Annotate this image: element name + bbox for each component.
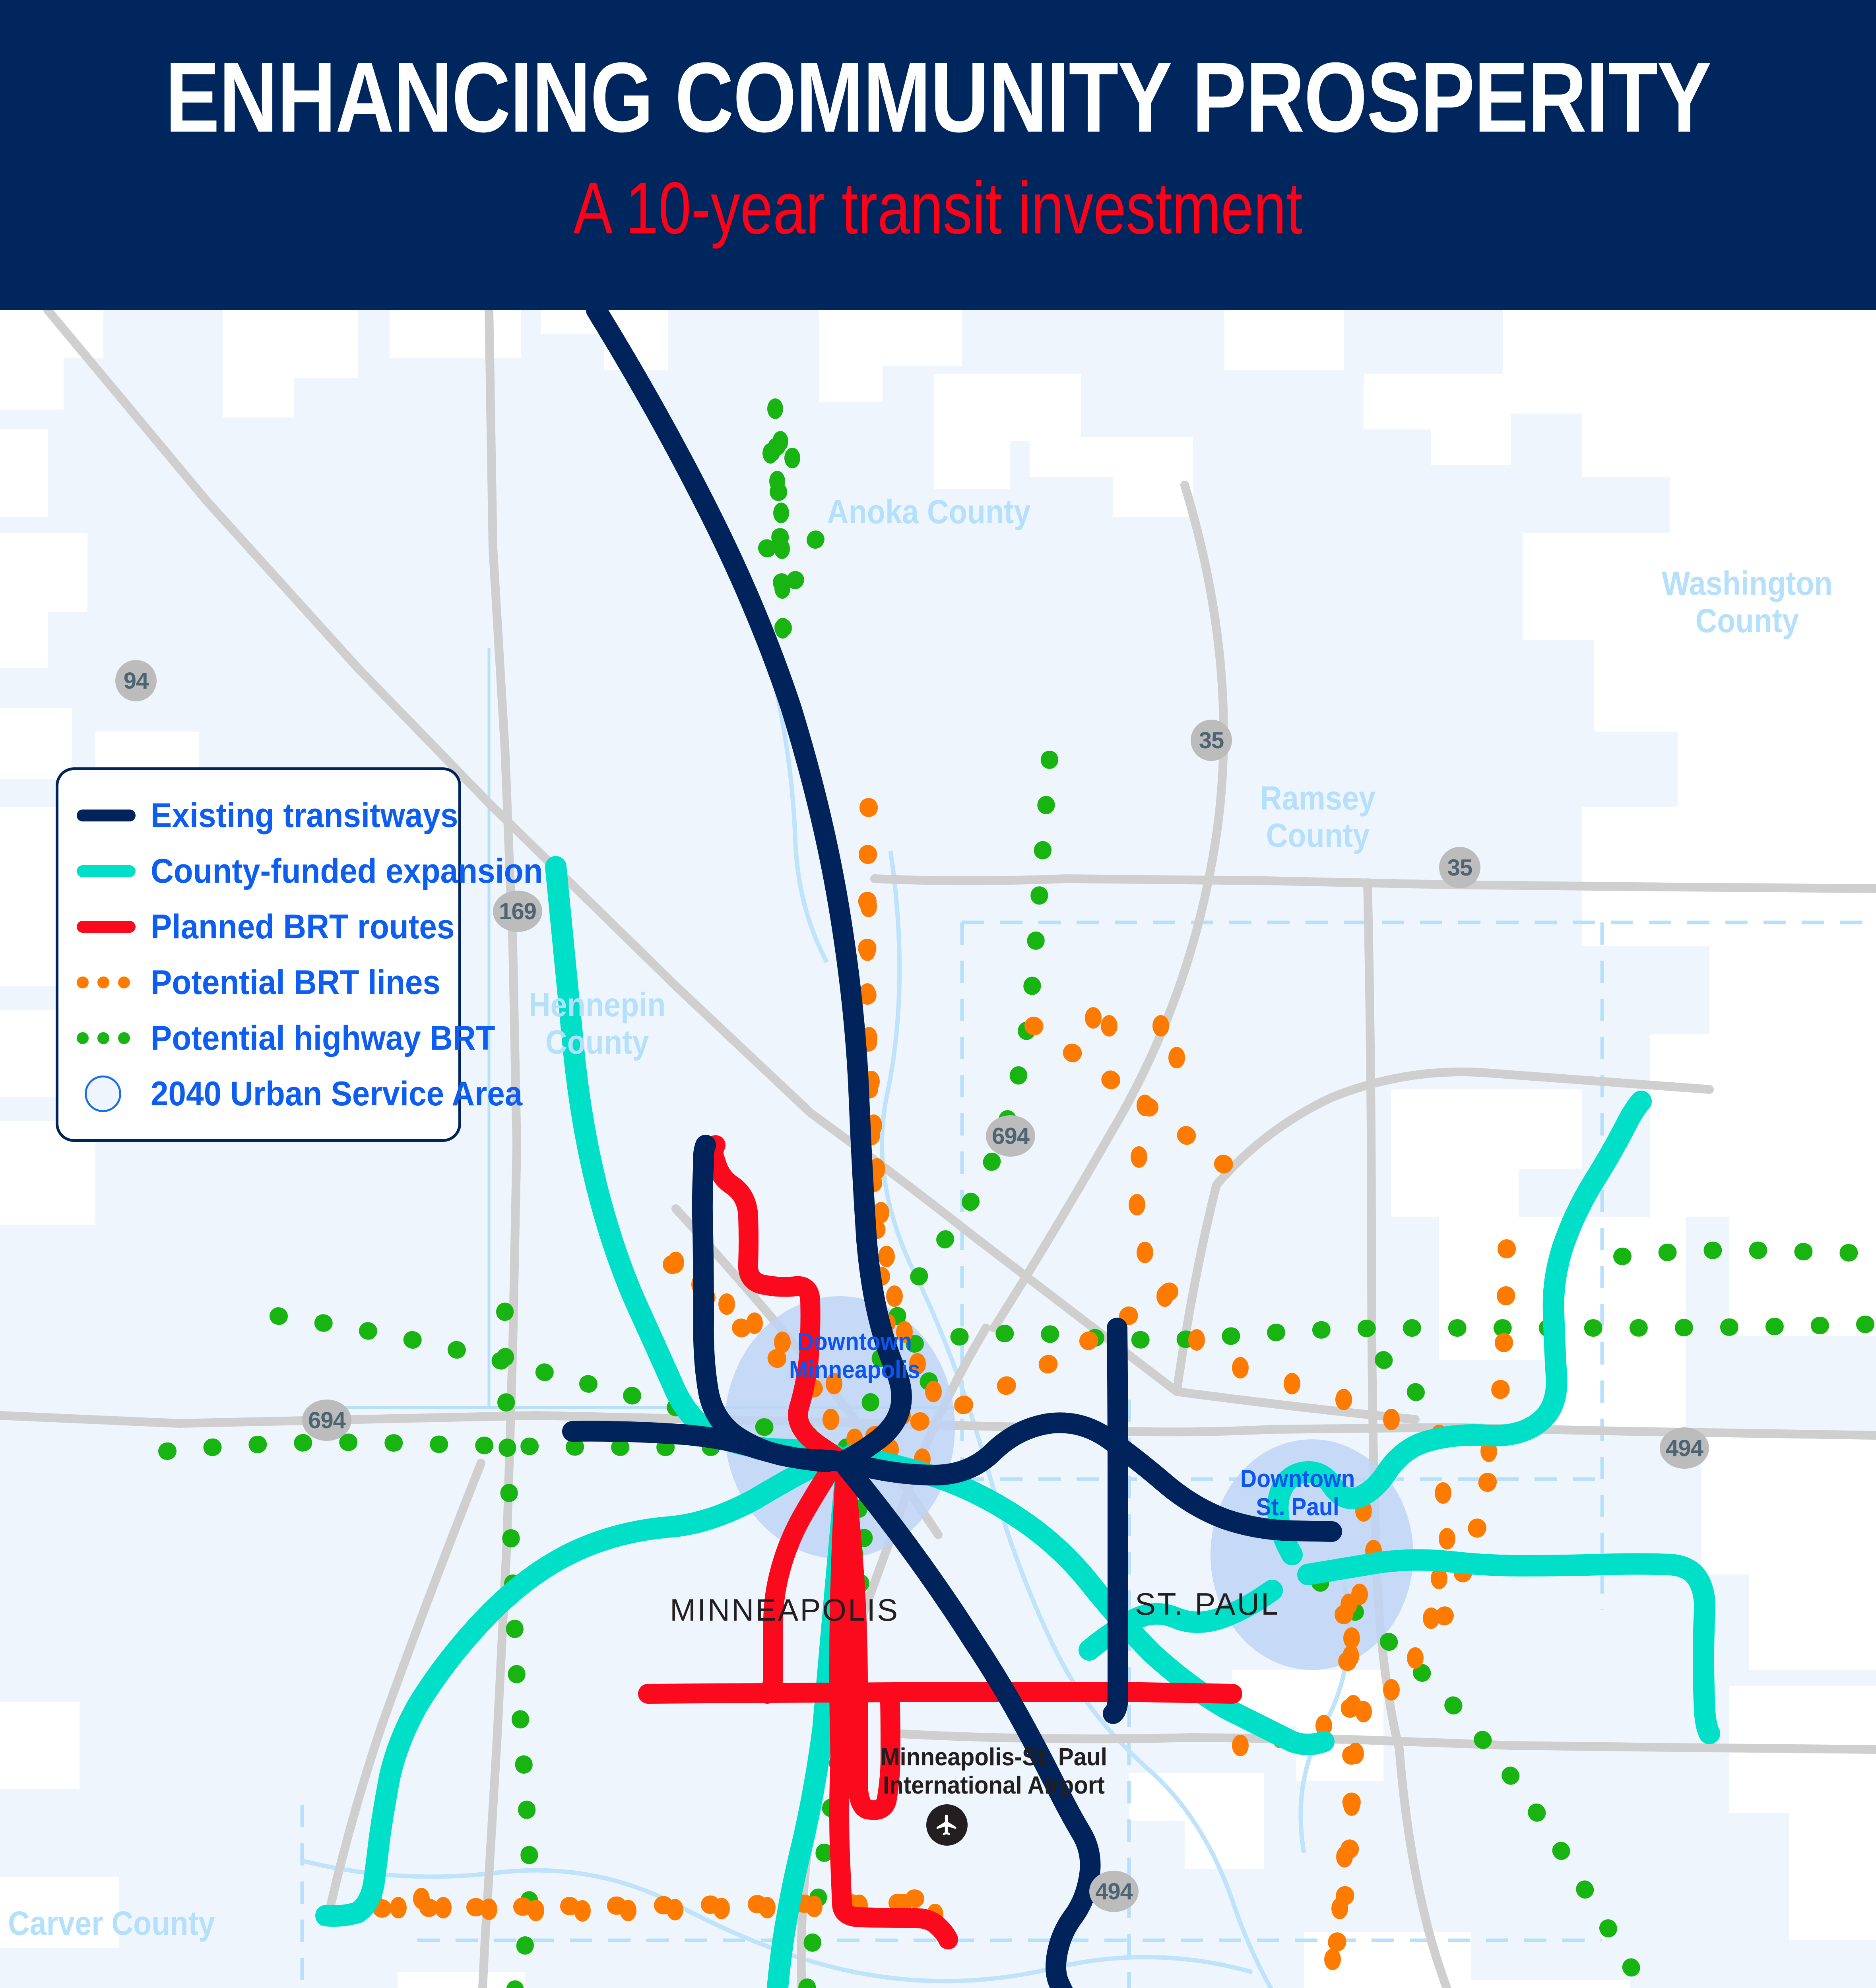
legend-label-potential-brt-lines: Potential BRT lines xyxy=(151,965,440,1000)
legend-swatch-existing-transitways xyxy=(77,788,140,843)
legend-label-urban-service-area: 2040 Urban Service Area xyxy=(151,1077,522,1111)
legend-label-county-funded-expansion: County-funded expansion xyxy=(151,854,543,888)
legend-swatch-urban-service-area xyxy=(77,1066,140,1122)
legend-label-potential-highway-brt: Potential highway BRT xyxy=(151,1021,495,1055)
legend-item-potential-brt-lines[interactable]: Potential BRT lines xyxy=(77,955,442,1010)
legend-swatch-county-funded-expansion xyxy=(77,843,140,899)
map-legend: Existing transitways County-funded expan… xyxy=(56,767,461,1142)
legend-item-planned-brt-routes[interactable]: Planned BRT routes xyxy=(77,899,442,955)
highway-shield-494-south: 494 xyxy=(1089,1871,1139,1912)
legend-item-urban-service-area[interactable]: 2040 Urban Service Area xyxy=(77,1066,442,1122)
legend-label-planned-brt-routes: Planned BRT routes xyxy=(151,910,454,944)
legend-swatch-potential-highway-brt xyxy=(77,1010,140,1066)
highway-shield-94-nw: 94 xyxy=(115,660,157,701)
highway-shield-169-nw: 169 xyxy=(493,891,542,932)
legend-swatch-potential-brt-lines xyxy=(77,955,140,1010)
highway-shield-35-north: 35 xyxy=(1191,720,1232,761)
page-title: ENHANCING COMMUNITY PROSPERITY xyxy=(165,48,1711,147)
highway-shield-35-ne: 35 xyxy=(1439,847,1480,888)
highway-shield-694-west: 694 xyxy=(302,1400,351,1441)
legend-item-county-funded-expansion[interactable]: County-funded expansion xyxy=(77,843,442,899)
highway-shield-494-east: 494 xyxy=(1660,1427,1709,1469)
legend-label-existing-transitways: Existing transitways xyxy=(151,798,458,833)
transit-map[interactable]: Anoka County Washington County Ramsey Co… xyxy=(0,310,1876,1988)
highway-shield-694-north: 694 xyxy=(986,1115,1035,1157)
page-header: ENHANCING COMMUNITY PROSPERITY A 10-year… xyxy=(0,0,1876,310)
page-subtitle: A 10-year transit investment xyxy=(573,172,1302,245)
airplane-icon xyxy=(926,1804,968,1846)
legend-item-existing-transitways[interactable]: Existing transitways xyxy=(77,788,442,843)
legend-item-potential-highway-brt[interactable]: Potential highway BRT xyxy=(77,1010,442,1066)
legend-swatch-planned-brt-routes xyxy=(77,899,140,955)
